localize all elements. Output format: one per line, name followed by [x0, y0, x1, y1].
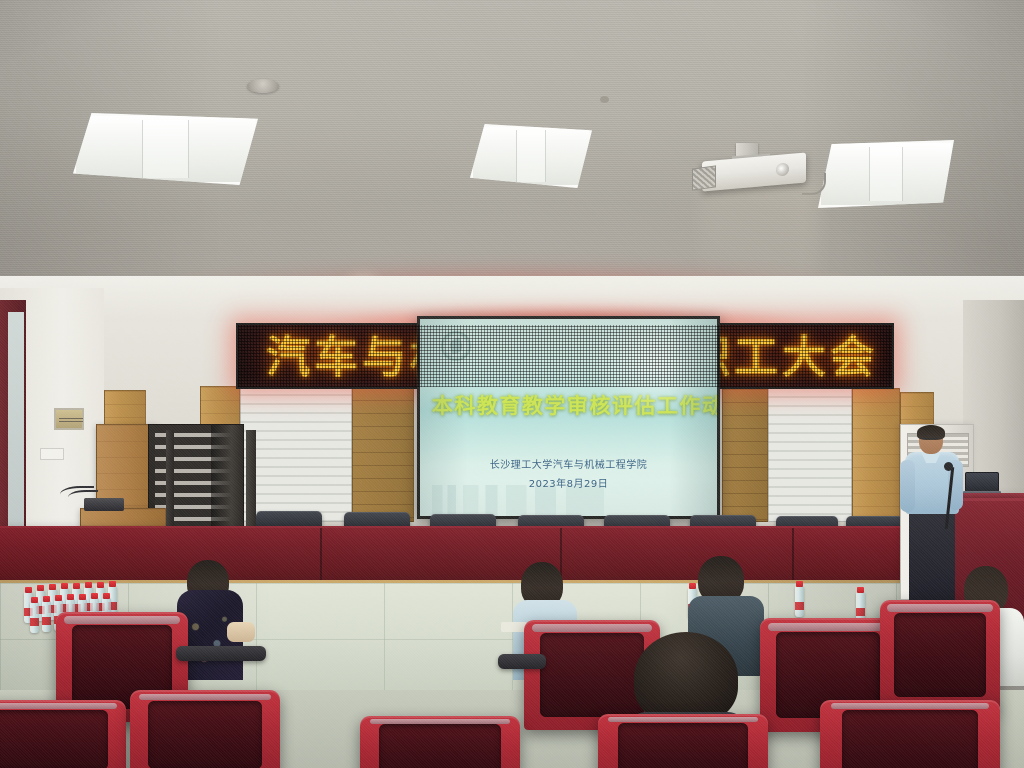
- audience-seat[interactable]: [360, 716, 520, 768]
- presenter-arm-left: [900, 460, 915, 512]
- attendee-arm: [227, 622, 255, 642]
- wood-wall-panel: [852, 388, 900, 522]
- slat-wall-panel: [768, 388, 852, 522]
- presenter-trousers: [909, 511, 955, 611]
- glasses-icon: [920, 438, 942, 443]
- wall-info-plaque: [54, 408, 84, 430]
- audience-seat[interactable]: [598, 714, 768, 768]
- screen-vignette: [420, 319, 717, 516]
- audience-seat[interactable]: [880, 600, 1000, 710]
- ceiling-panel-light: [470, 124, 592, 188]
- conference-hall-photo: 汽车与机 职工大会 本科教育教学审核评估工作动员会 长沙理工大学汽车与机械工程学…: [0, 0, 1024, 768]
- slat-wall-panel: [240, 386, 352, 522]
- laptop-screen: [965, 472, 999, 492]
- ceiling-projector: [692, 143, 806, 191]
- audience-seat[interactable]: [130, 690, 280, 768]
- wood-wall-panel: [722, 388, 768, 522]
- seat-armrest: [176, 646, 266, 661]
- microphone-arm: [68, 490, 98, 502]
- wood-wall-panel: [352, 386, 414, 522]
- audience-seat[interactable]: [820, 700, 1000, 768]
- ceiling-panel-light: [73, 113, 258, 185]
- projection-screen-frame: 本科教育教学审核评估工作动员会 长沙理工大学汽车与机械工程学院 2023年8月2…: [417, 316, 720, 519]
- smoke-detector-icon: [247, 79, 279, 93]
- head-table: [0, 526, 918, 582]
- microphone-head: [944, 462, 953, 471]
- projector-vent: [692, 165, 716, 190]
- water-bottle: [795, 586, 804, 617]
- sprinkler-head-icon: [600, 96, 609, 103]
- ceiling-panel-light: [818, 140, 954, 208]
- light-switch-plate[interactable]: [40, 448, 64, 460]
- audience-seat[interactable]: [0, 700, 126, 768]
- projector-body: [702, 152, 806, 191]
- floral-pattern: [181, 604, 239, 680]
- seat-armrest: [498, 654, 546, 669]
- projection-screen: 本科教育教学审核评估工作动员会 长沙理工大学汽车与机械工程学院 2023年8月2…: [420, 319, 717, 516]
